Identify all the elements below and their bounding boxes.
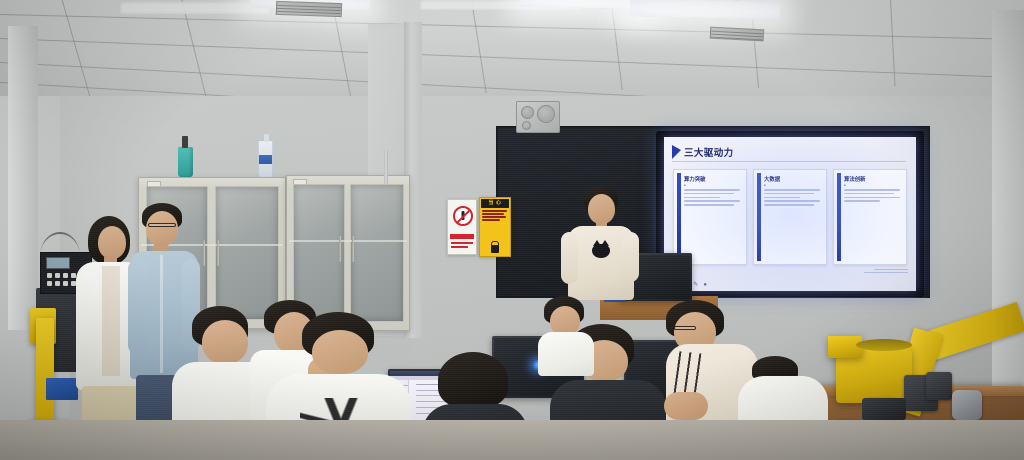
card-bullet: • (764, 183, 766, 189)
air-vent-grille (276, 1, 342, 17)
presentation-slide: 三大驱动力 算力突破 • 大数据 • (664, 137, 916, 291)
student-small-torso (538, 332, 594, 376)
card-bullet: • (684, 183, 686, 189)
card-bullet: • (844, 183, 846, 189)
wall-pipe (384, 150, 388, 184)
slide-title: 三大驱动力 (684, 145, 734, 159)
lab-floor (0, 420, 1024, 460)
presenter-arm-left (561, 232, 578, 284)
person-presenter (560, 186, 640, 306)
card-heading: 大数据 (764, 175, 822, 183)
student-thorn-head (312, 330, 368, 374)
slide-card: 算法创新 • (833, 169, 907, 265)
stripe-jacket-arm (664, 392, 708, 420)
person-student-small-back (538, 296, 596, 370)
woman-arm-left (76, 272, 98, 368)
presenter-arm-right (622, 232, 639, 282)
woman-inner-top (102, 266, 120, 376)
classroom-photo-scene: 三大驱动力 算力突破 • 大数据 • (0, 0, 1024, 460)
slide-title-rule (672, 161, 906, 162)
wall-display[interactable]: 三大驱动力 算力突破 • 大数据 • (656, 131, 924, 297)
shirt-placket (160, 255, 163, 373)
slide-credit (864, 269, 908, 275)
eyeglasses (148, 223, 176, 227)
student-a-head (202, 320, 248, 364)
student-back-hair (438, 352, 508, 408)
robot-arm-end-effector (952, 390, 982, 420)
card-accent-bar (677, 173, 681, 261)
slide-card: 大数据 • (753, 169, 827, 265)
cat-print-graphic (592, 244, 610, 258)
triangle-bullet-icon (672, 145, 681, 159)
pen-icon[interactable]: ✎ (693, 282, 698, 288)
teal-spray-bottle[interactable] (178, 147, 193, 177)
wall-speaker (516, 101, 560, 133)
man-arm-left (128, 259, 148, 355)
robot-arm-elbow-joint (926, 372, 952, 400)
card-heading: 算法创新 (844, 175, 902, 183)
suspended-ceiling (0, 0, 1024, 96)
card-accent-bar (757, 173, 761, 261)
water-bottle[interactable] (258, 140, 273, 177)
blue-control-module (46, 378, 78, 400)
ceiling-light-right (630, 0, 780, 20)
card-heading: 算力突破 (684, 175, 742, 183)
slide-cards: 算力突破 • 大数据 • (673, 169, 907, 265)
robot-arm-top-plate (856, 339, 912, 351)
card-accent-bar (837, 173, 841, 261)
more-icon[interactable]: ● (703, 282, 707, 288)
robot-arm-motor (862, 398, 906, 420)
man-head (146, 211, 178, 246)
slide-card: 算力突破 • (673, 169, 747, 265)
woman-head (98, 226, 126, 259)
eyeglasses-student (674, 326, 696, 330)
air-vent-grille-2 (710, 27, 765, 42)
no-climbing-prohibition-sign (447, 199, 477, 255)
warning-header: 当 心 (481, 199, 509, 208)
lock-icon (491, 245, 499, 253)
danger-warning-sign: 当 心 (479, 197, 511, 257)
